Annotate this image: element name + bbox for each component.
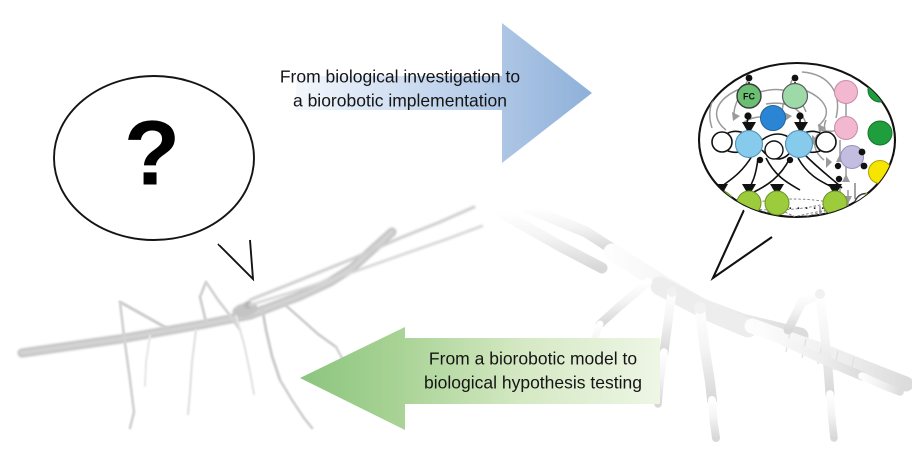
network-node-fc: FC	[737, 84, 761, 108]
network-node-pink-1	[835, 81, 858, 104]
network-node-green-light	[783, 84, 808, 109]
network-callout: FC . . . . .	[0, 0, 912, 453]
figure-canvas: ?	[0, 0, 912, 453]
network-node-brown-3	[778, 231, 802, 255]
network-node-lavender	[841, 146, 864, 169]
network-node-white-center	[765, 141, 783, 159]
network-node-blue-dark	[761, 106, 786, 131]
network-node-white-left	[712, 132, 732, 152]
network-node-green-2	[868, 121, 892, 145]
network-node-olive-1	[709, 191, 733, 215]
network-node-yellow-sensor	[814, 231, 838, 255]
network-node-blue-left	[736, 131, 763, 158]
network-node-blue-right	[786, 131, 813, 158]
network-node-yellow-half	[855, 194, 878, 217]
network-node-white-right	[816, 132, 836, 152]
network-node-pink-2	[835, 117, 858, 140]
network-fc-label: FC	[743, 91, 755, 101]
network-node-olive-3	[765, 191, 789, 215]
network-node-yellow-1	[869, 161, 892, 184]
network-claw-marks	[713, 224, 835, 234]
network-ellipsis-label: . . . . .	[789, 200, 826, 212]
